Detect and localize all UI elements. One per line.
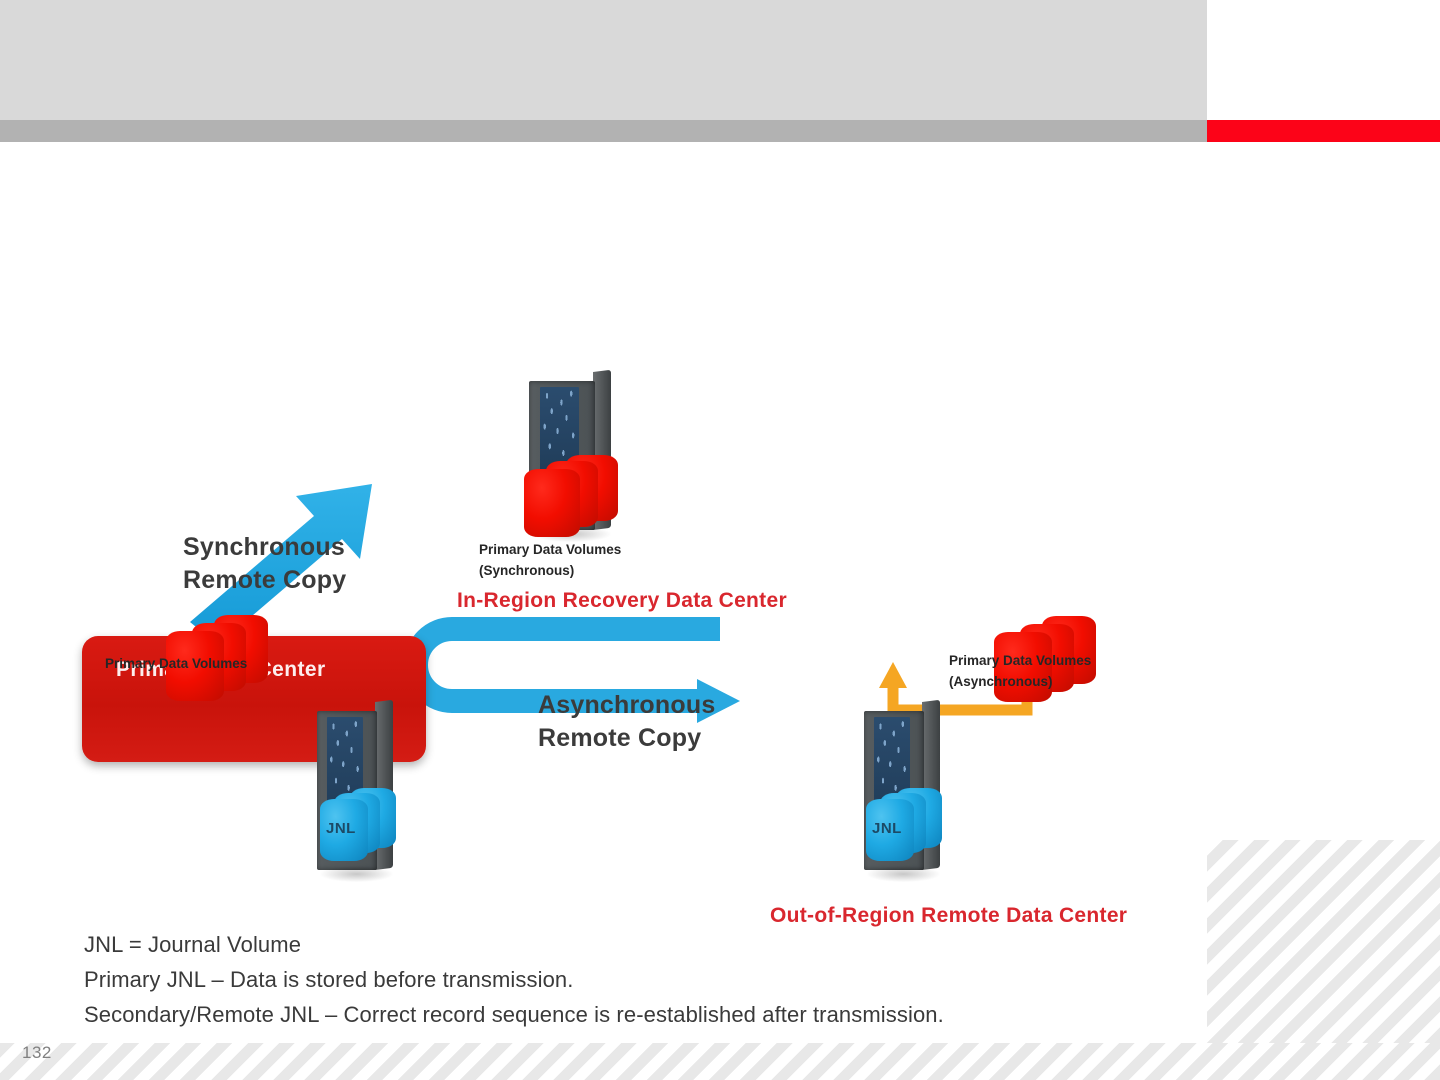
- in-region-volumes-label-line1: Primary Data Volumes: [479, 541, 621, 559]
- hatch-pattern-right: [1207, 840, 1440, 1043]
- header-band-light: [0, 0, 1207, 120]
- footnotes-block: JNL = Journal Volume Primary JNL – Data …: [84, 928, 1184, 1032]
- out-of-region-volumes-label-line1: Primary Data Volumes: [949, 652, 1091, 670]
- out-of-region-journal-disks: JNL: [866, 788, 946, 856]
- synchronous-copy-label-line2: Remote Copy: [183, 564, 346, 597]
- remote-copy-diagram: Primary Data Volumes (Synchronous) In-Re…: [0, 150, 1207, 1040]
- in-region-volumes-label-line2: (Synchronous): [479, 562, 574, 580]
- asynchronous-copy-label-line2: Remote Copy: [538, 722, 701, 755]
- footnote-line: Secondary/Remote JNL – Correct record se…: [84, 998, 1184, 1033]
- page-number: 132: [22, 1043, 52, 1063]
- header-band-dark: [0, 120, 1207, 142]
- primary-journal-disks: JNL: [320, 788, 400, 856]
- slide-canvas: Primary Data Volumes (Synchronous) In-Re…: [0, 0, 1440, 1080]
- out-of-region-datacenter-label: Out-of-Region Remote Data Center: [770, 904, 1127, 928]
- header-band-accent-red: [1207, 120, 1440, 142]
- out-of-region-journal-disk-label: JNL: [872, 820, 902, 837]
- primary-data-volumes-label: Primary Data Volumes: [105, 655, 247, 673]
- out-of-region-volumes-label-line2: (Asynchronous): [949, 673, 1053, 691]
- in-region-primary-volumes-disks: [524, 455, 628, 533]
- rack-drop-shadow: [320, 866, 393, 882]
- synchronous-copy-label-line1: Synchronous: [183, 531, 345, 564]
- footnote-line: Primary JNL – Data is stored before tran…: [84, 963, 1184, 998]
- asynchronous-copy-label-line1: Asynchronous: [538, 689, 715, 722]
- hatch-pattern-bottom: [0, 1043, 1440, 1080]
- in-region-datacenter-label: In-Region Recovery Data Center: [457, 589, 787, 613]
- disk-cylinder: [524, 469, 580, 537]
- footnote-line: JNL = Journal Volume: [84, 928, 1184, 963]
- rack-drop-shadow: [867, 866, 940, 882]
- primary-journal-disk-label: JNL: [326, 820, 356, 837]
